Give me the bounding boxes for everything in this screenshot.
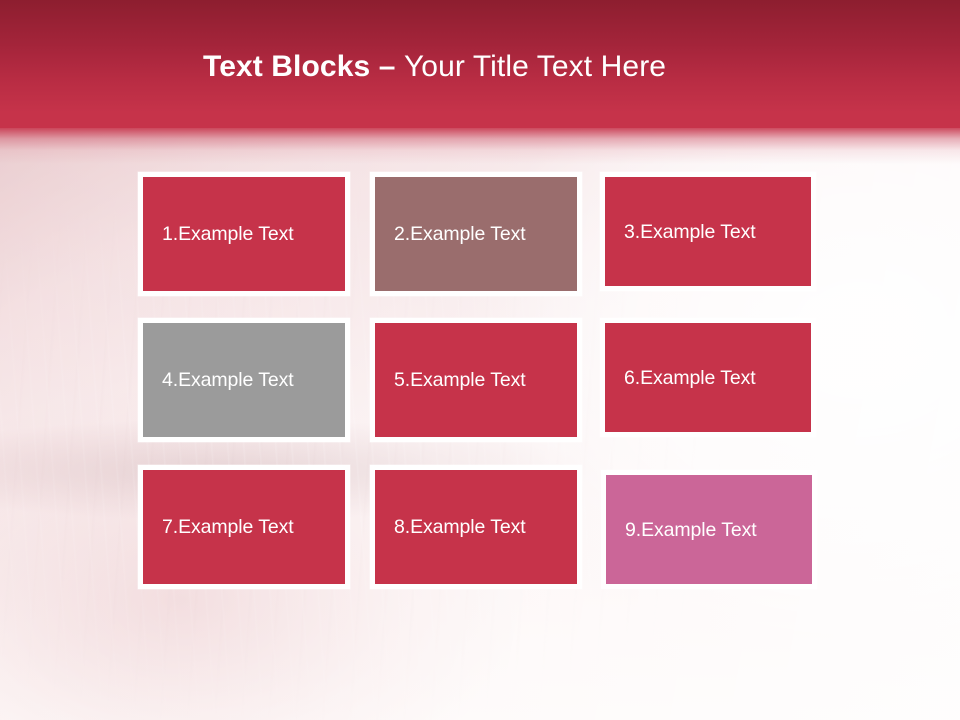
- text-block-4[interactable]: 4.Example Text: [138, 318, 350, 442]
- text-block-label: 5.Example Text: [375, 368, 534, 392]
- text-block-label: 1.Example Text: [143, 222, 302, 246]
- text-block-label: 4.Example Text: [143, 368, 302, 392]
- text-block-1[interactable]: 1.Example Text: [138, 172, 350, 296]
- text-block-label: 2.Example Text: [375, 222, 534, 246]
- text-block-8[interactable]: 8.Example Text: [370, 465, 582, 589]
- slide-canvas: Text Blocks – Your Title Text Here 1.Exa…: [0, 0, 960, 720]
- text-block-label: 6.Example Text: [605, 366, 764, 390]
- text-blocks-grid: 1.Example Text2.Example Text3.Example Te…: [0, 0, 960, 720]
- text-block-label: 7.Example Text: [143, 515, 302, 539]
- text-block-9[interactable]: 9.Example Text: [601, 470, 817, 589]
- text-block-3[interactable]: 3.Example Text: [600, 172, 816, 291]
- text-block-6[interactable]: 6.Example Text: [600, 318, 816, 437]
- text-block-label: 3.Example Text: [605, 220, 764, 244]
- text-block-label: 8.Example Text: [375, 515, 534, 539]
- text-block-label: 9.Example Text: [606, 518, 765, 542]
- text-block-2[interactable]: 2.Example Text: [370, 172, 582, 296]
- text-block-7[interactable]: 7.Example Text: [138, 465, 350, 589]
- text-block-5[interactable]: 5.Example Text: [370, 318, 582, 442]
